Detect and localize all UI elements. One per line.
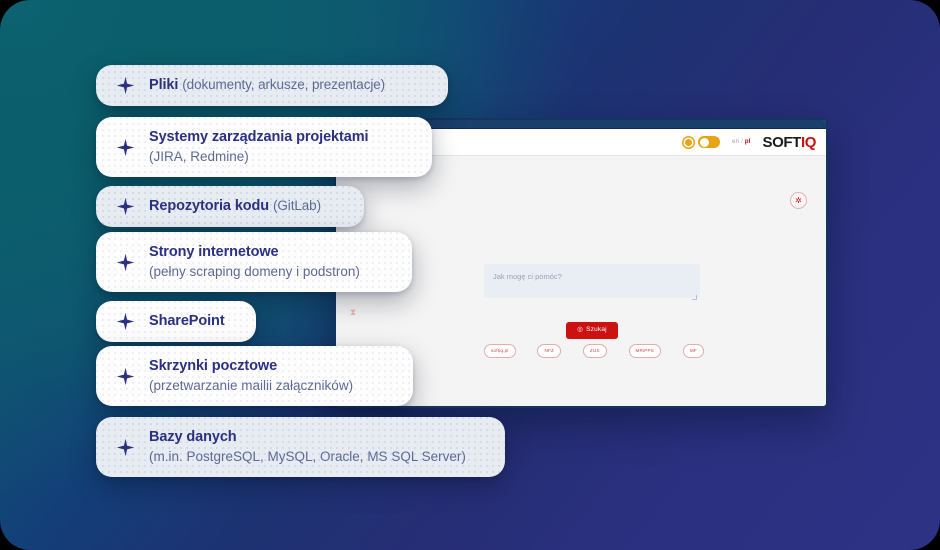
language-option-en[interactable]: en — [732, 139, 739, 145]
feature-card-repozytoria-kodu[interactable]: Repozytoria kodu (GitLab) — [96, 186, 364, 227]
card-text: Pliki (dokumenty, arkusze, prezentacje) — [149, 78, 385, 93]
sparkle-icon — [116, 197, 135, 216]
sparkle-icon — [116, 438, 135, 457]
card-text: Systemy zarządzania projektami (JIRA, Re… — [149, 130, 368, 164]
feature-card-bazy-danych[interactable]: Bazy danych (m.in. PostgreSQL, MySQL, Or… — [96, 417, 505, 477]
hourglass-icon[interactable]: ⧗ — [350, 308, 356, 317]
card-text: SharePoint — [149, 314, 225, 329]
card-text: Repozytoria kodu (GitLab) — [149, 199, 321, 214]
card-title-suffix: (dokumenty, arkusze, prezentacje) — [182, 77, 385, 92]
search-button[interactable]: ◎ Szukaj — [566, 322, 618, 339]
card-title-suffix: (GitLab) — [273, 198, 321, 213]
card-subtitle: (m.in. PostgreSQL, MySQL, Oracle, MS SQL… — [149, 450, 466, 464]
theme-toggle[interactable] — [685, 136, 720, 148]
card-title-main: Pliki — [149, 77, 178, 93]
card-title: Systemy zarządzania projektami — [149, 130, 368, 145]
sparkle-icon — [116, 253, 135, 272]
source-chip-mf[interactable]: MF — [683, 344, 704, 358]
sparkle-icon — [116, 138, 135, 157]
source-chips: softiq.pl NFZ ZUS MRiPPS MF — [484, 344, 704, 358]
card-title: Strony internetowe — [149, 245, 360, 260]
search-circle-icon: ◎ — [577, 327, 583, 334]
feature-card-pliki[interactable]: Pliki (dokumenty, arkusze, prezentacje) — [96, 65, 448, 106]
settings-button[interactable]: ✲ — [790, 192, 807, 209]
card-title: Pliki (dokumenty, arkusze, prezentacje) — [149, 78, 385, 93]
language-switcher[interactable]: en / pl — [732, 139, 750, 145]
card-text: Skrzynki pocztowe (przetwarzanie mailii … — [149, 359, 353, 393]
card-title: SharePoint — [149, 314, 225, 329]
toggle-switch[interactable] — [698, 136, 720, 148]
source-chip-zus[interactable]: ZUS — [583, 344, 607, 358]
gradient-background: en / pl SOFTIQ ◎ ⁂ ◎ ⌕ ✉ ▷ ⧗ ✲ — [0, 0, 940, 550]
feature-card-systemy-zarzadzania-projektami[interactable]: Systemy zarządzania projektami (JIRA, Re… — [96, 117, 432, 177]
card-text: Bazy danych (m.in. PostgreSQL, MySQL, Or… — [149, 430, 466, 464]
gear-icon: ✲ — [795, 197, 802, 205]
logo-text-soft: SOFT — [763, 134, 801, 151]
feature-card-skrzynki-pocztowe[interactable]: Skrzynki pocztowe (przetwarzanie mailii … — [96, 346, 413, 406]
feature-card-strony-internetowe[interactable]: Strony internetowe (pełny scraping domen… — [96, 232, 412, 292]
card-subtitle: (przetwarzanie mailii załączników) — [149, 379, 353, 393]
card-text: Strony internetowe (pełny scraping domen… — [149, 245, 360, 279]
source-chip-mripps[interactable]: MRiPPS — [629, 344, 662, 358]
logo-text-iq: IQ — [801, 134, 816, 151]
source-chip-nfz[interactable]: NFZ — [537, 344, 561, 358]
language-option-pl[interactable]: pl — [745, 139, 751, 145]
search-area: ◎ Szukaj — [484, 264, 700, 339]
search-input[interactable] — [484, 264, 700, 298]
sparkle-icon — [116, 76, 135, 95]
language-separator: / — [741, 139, 743, 145]
sun-icon — [685, 139, 692, 146]
card-title: Repozytoria kodu (GitLab) — [149, 199, 321, 214]
card-subtitle: (JIRA, Redmine) — [149, 150, 368, 164]
feature-card-sharepoint[interactable]: SharePoint — [96, 301, 256, 342]
card-title-main: Repozytoria kodu — [149, 198, 269, 214]
sparkle-icon — [116, 367, 135, 386]
sparkle-icon — [116, 312, 135, 331]
card-subtitle: (pełny scraping domeny i podstron) — [149, 265, 360, 279]
card-title: Bazy danych — [149, 430, 466, 445]
source-chip-softiq[interactable]: softiq.pl — [484, 344, 516, 358]
card-title: Skrzynki pocztowe — [149, 359, 353, 374]
softiq-logo: SOFTIQ — [763, 134, 816, 151]
search-button-label: Szukaj — [586, 327, 607, 334]
